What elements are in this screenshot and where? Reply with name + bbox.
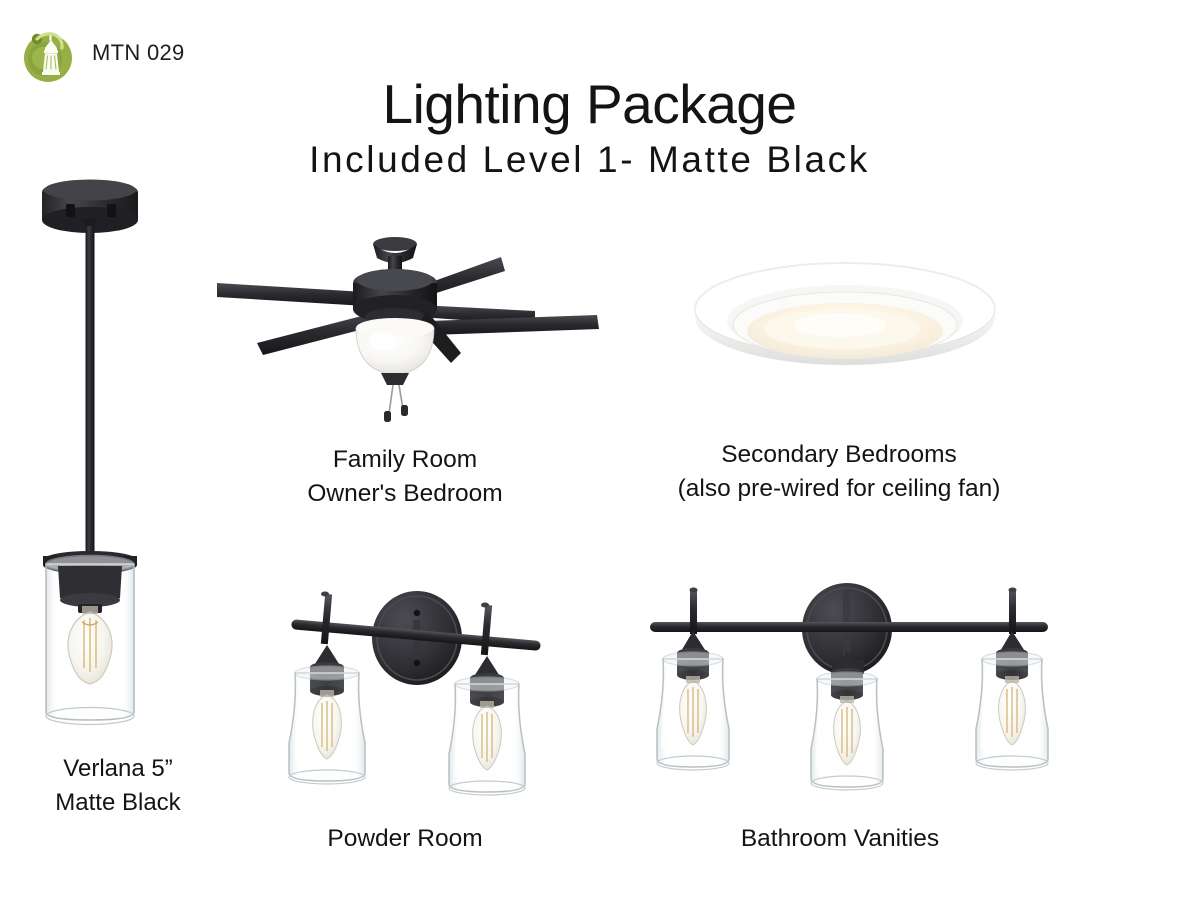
brand-code-label: MTN 029 (92, 40, 185, 66)
caption-line: (also pre-wired for ceiling fan) (638, 472, 1040, 506)
flush-mount-disc-light-icon (690, 245, 1000, 395)
caption-powder-room: Powder Room (265, 822, 545, 856)
two-light-vanity-icon (265, 565, 565, 815)
caption-line: Owner's Bedroom (245, 477, 565, 511)
caption-ceiling-fan: Family Room Owner's Bedroom (245, 443, 565, 512)
page-title: Lighting Package (0, 76, 1179, 132)
caption-line: Family Room (245, 443, 565, 477)
mini-pendant-light-icon (20, 160, 220, 740)
caption-line: Verlana 5” (18, 752, 218, 786)
caption-pendant: Verlana 5” Matte Black (18, 752, 218, 819)
caption-bathroom-vanities: Bathroom Vanities (630, 822, 1050, 856)
caption-line: Matte Black (18, 786, 218, 820)
caption-line: Powder Room (265, 822, 545, 856)
caption-line: Bathroom Vanities (630, 822, 1050, 856)
brand-header: MTN 029 (18, 22, 185, 84)
caption-flush-mount: Secondary Bedrooms (also pre-wired for c… (638, 438, 1040, 507)
caption-line: Secondary Bedrooms (638, 438, 1040, 472)
lantern-logo-icon (18, 22, 80, 84)
ceiling-fan-icon (205, 225, 625, 425)
three-light-vanity-icon (625, 565, 1070, 815)
